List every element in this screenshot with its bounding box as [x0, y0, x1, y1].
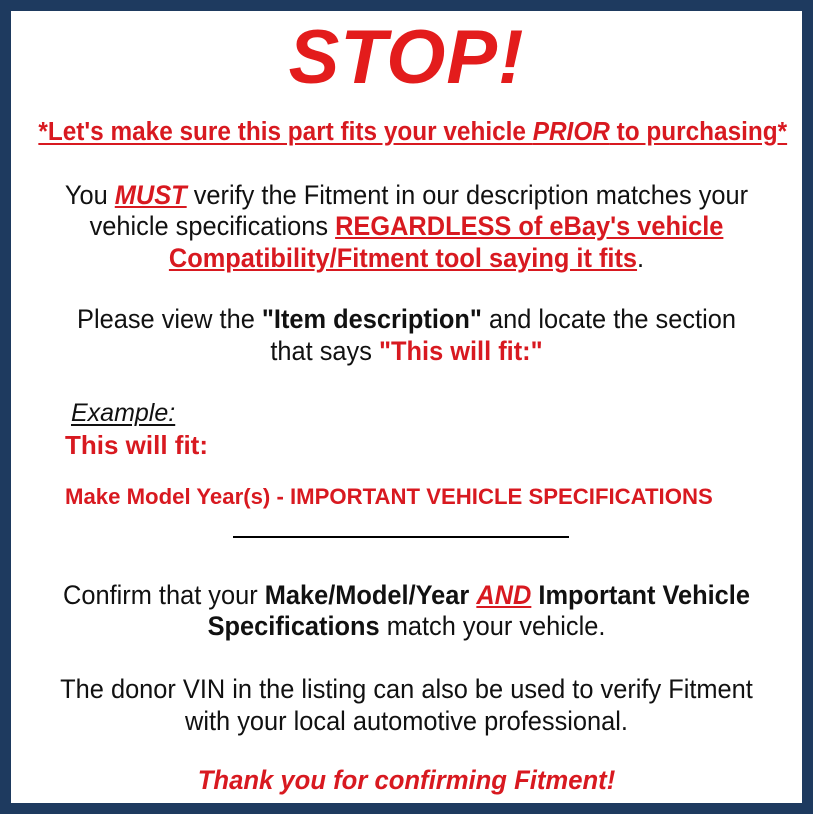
this-will-fit-quote: "This will fit:" — [379, 336, 543, 366]
confirm-paragraph-segment-1: Confirm that your — [63, 580, 265, 610]
paragraph-donor-vin: The donor VIN in the listing can also be… — [44, 674, 769, 737]
closing-thank-you: Thank you for confirming Fitment! — [40, 765, 772, 797]
description-paragraph-segment-1: Please view the — [77, 304, 262, 334]
subtitle-tail-text: to purchasing* — [610, 118, 787, 146]
page-title: STOP! — [21, 19, 792, 97]
fitment-notice-card: STOP! *Let's make sure this part fits yo… — [0, 0, 813, 814]
example-label: Example: — [71, 399, 175, 428]
and-emphasis: AND — [476, 580, 531, 610]
paragraph-must-verify: You MUST verify the Fitment in our descr… — [44, 180, 769, 275]
example-label-row: Example: — [65, 399, 792, 428]
example-fit-heading: This will fit: — [65, 430, 792, 461]
section-divider — [233, 536, 569, 538]
divider-row — [21, 536, 792, 550]
item-description-strong: "Item description" — [262, 304, 482, 334]
subtitle-lead-text: *Let's make sure this part fits your veh… — [38, 118, 532, 146]
example-spec-line: Make Model Year(s) - IMPORTANT VEHICLE S… — [65, 483, 781, 510]
paragraph-item-description: Please view the "Item description" and l… — [44, 304, 769, 367]
example-block: Example: This will fit: Make Model Year(… — [21, 399, 792, 509]
notice-card-inner: STOP! *Let's make sure this part fits yo… — [11, 19, 802, 811]
make-model-year-strong: Make/Model/Year — [265, 580, 470, 610]
subtitle-banner: *Let's make sure this part fits your veh… — [38, 118, 774, 146]
must-paragraph-period: . — [637, 243, 644, 273]
must-emphasis: MUST — [115, 180, 187, 210]
confirm-paragraph-segment-5: match your vehicle. — [380, 611, 606, 641]
must-paragraph-segment-1: You — [65, 180, 115, 210]
subtitle-emphasis-prior: PRIOR — [533, 118, 610, 146]
paragraph-confirm-match: Confirm that your Make/Model/Year AND Im… — [44, 580, 769, 643]
